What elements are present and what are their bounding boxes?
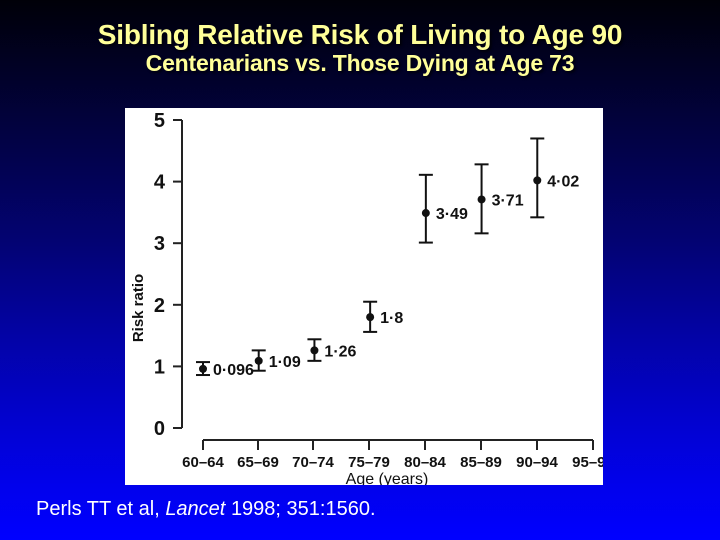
page-title: Sibling Relative Risk of Living to Age 9…	[0, 20, 720, 50]
y-axis-title: Risk ratio	[130, 274, 147, 342]
point-marker	[310, 346, 318, 354]
y-tick-label-4: 4	[154, 172, 166, 194]
y-tick-label-1: 1	[154, 356, 165, 378]
page-subtitle: Centenarians vs. Those Dying at Age 73	[0, 51, 720, 76]
x-tick-label-8: 95–99	[572, 454, 603, 471]
slide-canvas: Sibling Relative Risk of Living to Age 9…	[0, 0, 720, 540]
x-axis-title: Age (years)	[346, 471, 429, 485]
point-marker	[533, 176, 541, 184]
point-marker	[422, 209, 430, 217]
data-point-85-89: 3·71	[475, 164, 524, 233]
data-point-60-64: 0·096	[196, 362, 254, 379]
data-point-70-74: 1·26	[307, 339, 356, 361]
data-point-65-69: 1·09	[252, 350, 301, 370]
data-point-80-84: 3·49	[419, 175, 468, 243]
x-tick-label-3: 70–74	[292, 454, 334, 471]
point-marker	[478, 195, 486, 203]
citation-line: Perls TT et al, Lancet 1998; 351:1560.	[36, 498, 376, 521]
x-tick-label-2: 65–69	[237, 454, 279, 471]
y-tick-label-5: 5	[154, 110, 165, 132]
x-tick-label-1: 60–64	[182, 454, 224, 471]
point-value-label: 3·49	[436, 206, 468, 223]
data-point-75-79: 1·8	[363, 302, 403, 332]
point-value-label: 1·8	[380, 310, 403, 327]
point-value-label: 0·096	[213, 362, 254, 379]
point-marker	[199, 365, 207, 373]
point-value-label: 4·02	[547, 173, 579, 190]
citation-prefix: Perls TT et al,	[36, 498, 160, 520]
point-value-label: 1·09	[269, 354, 301, 371]
citation-suffix: 1998; 351:1560.	[231, 498, 376, 520]
slide-title-block: Sibling Relative Risk of Living to Age 9…	[0, 20, 720, 76]
data-point-90-94: 4·02	[530, 138, 579, 217]
x-tick-label-4: 75–79	[348, 454, 390, 471]
x-tick-label-5: 80–84	[404, 454, 446, 471]
point-value-label: 1·26	[324, 343, 356, 360]
y-tick-label-3: 3	[154, 233, 165, 255]
point-value-label: 3·71	[492, 192, 524, 209]
point-marker	[366, 313, 374, 321]
x-tick-label-6: 85–89	[460, 454, 502, 471]
citation-journal: Lancet	[165, 498, 225, 520]
y-tick-label-0: 0	[154, 418, 165, 440]
point-marker	[255, 357, 263, 365]
risk-ratio-scatter-chart: 5 4 3 2 1 0 Risk ratio 60–64 65–69 70–74…	[125, 108, 603, 485]
chart-panel: 5 4 3 2 1 0 Risk ratio 60–64 65–69 70–74…	[125, 108, 603, 485]
x-tick-label-7: 90–94	[516, 454, 558, 471]
y-tick-label-2: 2	[154, 295, 165, 317]
data-points-layer: 0·0961·091·261·83·493·714·02	[196, 138, 579, 378]
